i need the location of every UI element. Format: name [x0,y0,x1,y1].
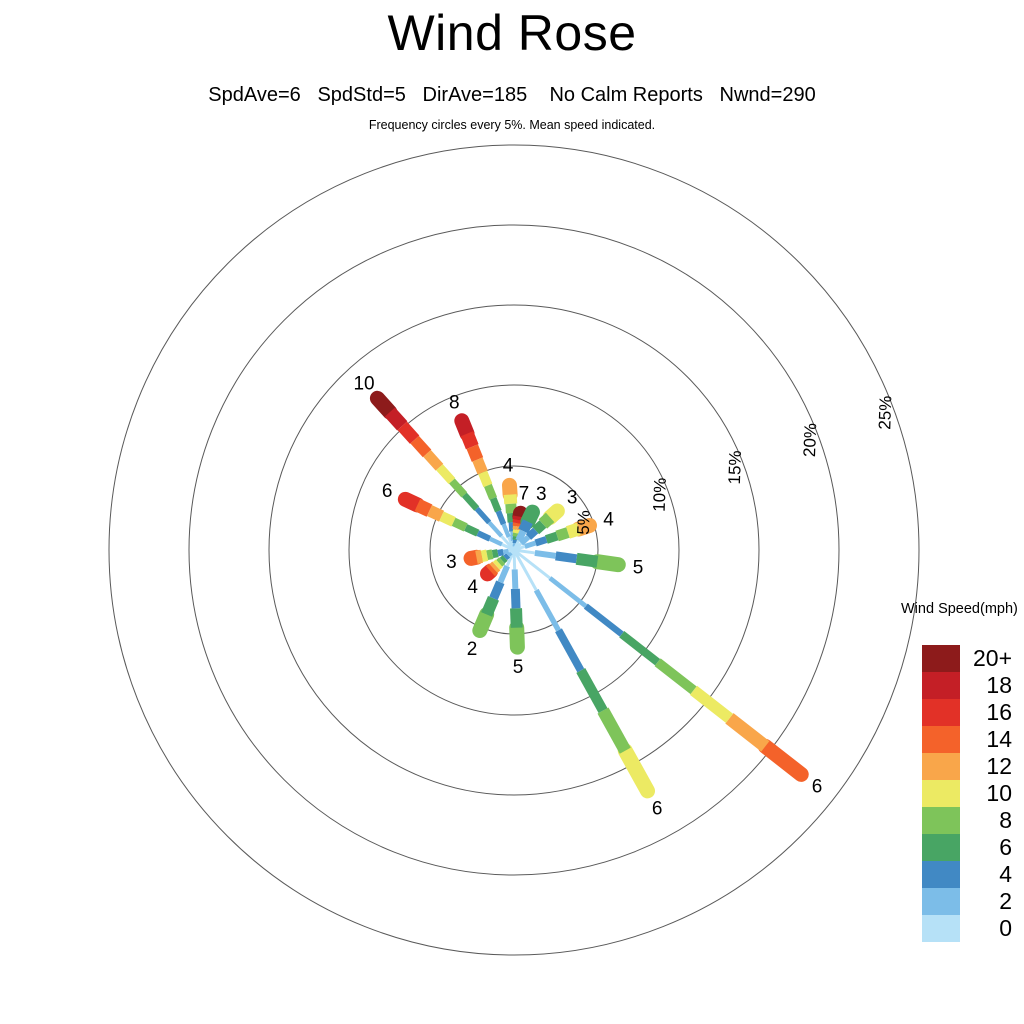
petal-segment [528,512,533,521]
petal-segment [556,556,577,559]
petal-segment [440,467,452,481]
legend-swatch [922,645,960,672]
legend-label: 4 [960,861,1014,888]
petal-segment [478,533,490,539]
petal-segment [546,536,557,540]
petal-segment [550,511,557,518]
petal-segment [517,530,518,533]
petal-segment [390,412,402,426]
petal-segment [467,434,472,447]
ring-label-25%: 25% [875,395,895,430]
petal-segment [499,561,502,564]
legend-label: 8 [960,807,1014,834]
petal-segment [511,504,512,513]
petal-segment [487,598,494,614]
petal-segment [515,589,516,608]
legend-row: 2 [922,888,1014,915]
legend-label: 0 [960,915,1014,942]
petal-segment [512,522,513,531]
petal-segment [504,524,509,537]
ring-labels: 5%10%15%20%25% [574,395,896,535]
petal-segment [510,495,511,504]
legend-label: 12 [960,753,1014,780]
petal-segment [483,472,488,485]
legend-swatch [922,807,960,834]
legend-swatch [922,915,960,942]
petal-segment [577,559,598,562]
legend-swatch [922,753,960,780]
petal-segment [480,614,487,630]
petal-label: 8 [449,392,460,413]
legend-row: 16 [922,699,1014,726]
petal-segment [490,569,493,572]
petal-segment [550,578,586,606]
wind-speed-legend: 20+181614121086420 [922,645,1014,942]
ring-label-10%: 10% [650,477,670,512]
petal-segment [518,523,519,526]
petal-segment [525,543,536,547]
legend-row: 6 [922,834,1014,861]
legend-row: 8 [922,807,1014,834]
petal-segment [622,634,658,662]
petal-segment [658,662,694,690]
petal-label: 5 [633,557,644,578]
petal-label: 6 [812,777,823,798]
petal-segment [477,509,489,523]
petal-segment [520,513,521,516]
legend-row: 10 [922,780,1014,807]
legend-swatch [922,726,960,753]
legend-row: 14 [922,726,1014,753]
petal-segment [496,563,499,566]
legend-label: 18 [960,672,1014,699]
petal-label: 3 [567,488,578,509]
petal-segment [586,606,622,634]
legend-swatch [922,888,960,915]
ring-label-20%: 20% [800,423,820,458]
petal-segment [597,562,618,565]
ring-label-15%: 15% [725,450,745,485]
petal-segment [402,426,414,440]
petal-segment [498,552,503,553]
legend-label: 14 [960,726,1014,753]
petal-segment [557,532,568,536]
petal-segment [490,539,502,545]
petal-segment [377,398,389,412]
petal-segment [518,527,519,530]
petal-segment [516,608,517,627]
petal-label: 3 [536,484,547,505]
legend-label: 20+ [960,645,1014,672]
petal-segment [515,569,516,588]
petal-label: 7 [519,484,530,505]
petal-segment [517,628,518,647]
petal-segment [493,566,496,569]
legend-swatch [922,672,960,699]
legend-row: 18 [922,672,1014,699]
legend-swatch [922,861,960,888]
petal-segment [528,530,535,537]
legend-row: 4 [922,861,1014,888]
petal-segment [515,540,516,543]
wind-rose-page: Wind Rose SpdAve=6 SpdStd=5 DirAve=185 N… [0,0,1024,1024]
petal-segment [519,520,520,523]
petal-segment [493,553,498,554]
petal-speed-labels: 1086473345665243 [353,373,822,819]
petal-segment [500,566,507,582]
petal-segment [442,516,454,522]
petal-segment [523,522,528,531]
petal-segment [472,447,477,460]
petal-segment [603,711,625,751]
petal-segment [462,421,467,434]
petal-segment [466,527,478,533]
petal-segment [503,551,508,552]
petal-segment [729,718,765,746]
petal-segment [488,571,491,574]
ring-label-5%: 5% [574,510,594,535]
petal-segment [536,539,547,543]
petal-segment [505,555,508,558]
petal-segment [471,557,476,558]
petal-segment [535,553,556,556]
legend-swatch [922,834,960,861]
petal-label: 4 [467,577,478,598]
legend-row: 0 [922,915,1014,942]
petal-segment [519,517,520,520]
legend-label: 16 [960,699,1014,726]
petal-segment [536,590,558,630]
petal-segment [489,522,501,536]
petal-label: 4 [503,455,514,476]
petal-segment [487,554,492,555]
petal-segment [427,453,439,467]
petal-segment [476,556,481,557]
petal-segment [493,582,500,598]
petal-segment [498,511,503,524]
petal-segment [509,550,514,551]
petal-label: 3 [446,552,457,573]
legend-swatch [922,699,960,726]
petal-segment [429,511,441,517]
petal-segment [765,746,801,774]
petal-segment [405,499,417,505]
petal-segment [516,533,517,536]
petal-label: 2 [467,639,478,660]
petal-segment [415,440,427,454]
legend-row: 12 [922,753,1014,780]
petal-segment [625,751,647,791]
petal-segment [543,517,550,524]
petal-segment [417,505,429,511]
legend-title: Wind Speed(mph) [901,601,1018,617]
petal-segment [536,524,543,531]
petal-label: 4 [603,509,614,530]
petal-segment [464,495,476,509]
petal-segment [482,555,487,556]
petal-label: 6 [652,798,663,819]
petal-segment [488,485,493,498]
legend-label: 10 [960,780,1014,807]
petal-segment [477,460,482,473]
petal-segment [559,630,581,670]
legend-label: 6 [960,834,1014,861]
petal-segment [502,558,505,561]
wind-rose-plot: 5%10%15%20%25% 1086473345665243 [0,0,1024,1024]
petal-segment [511,513,512,522]
petal-label: 10 [353,373,374,394]
petal-segment [509,485,510,494]
petal-label: 5 [513,657,524,678]
petal-label: 6 [382,481,393,502]
legend-label: 2 [960,888,1014,915]
legend-row: 20+ [922,645,1014,672]
petal-segment [493,498,498,511]
legend-swatch [922,780,960,807]
petal-segment [454,522,466,528]
